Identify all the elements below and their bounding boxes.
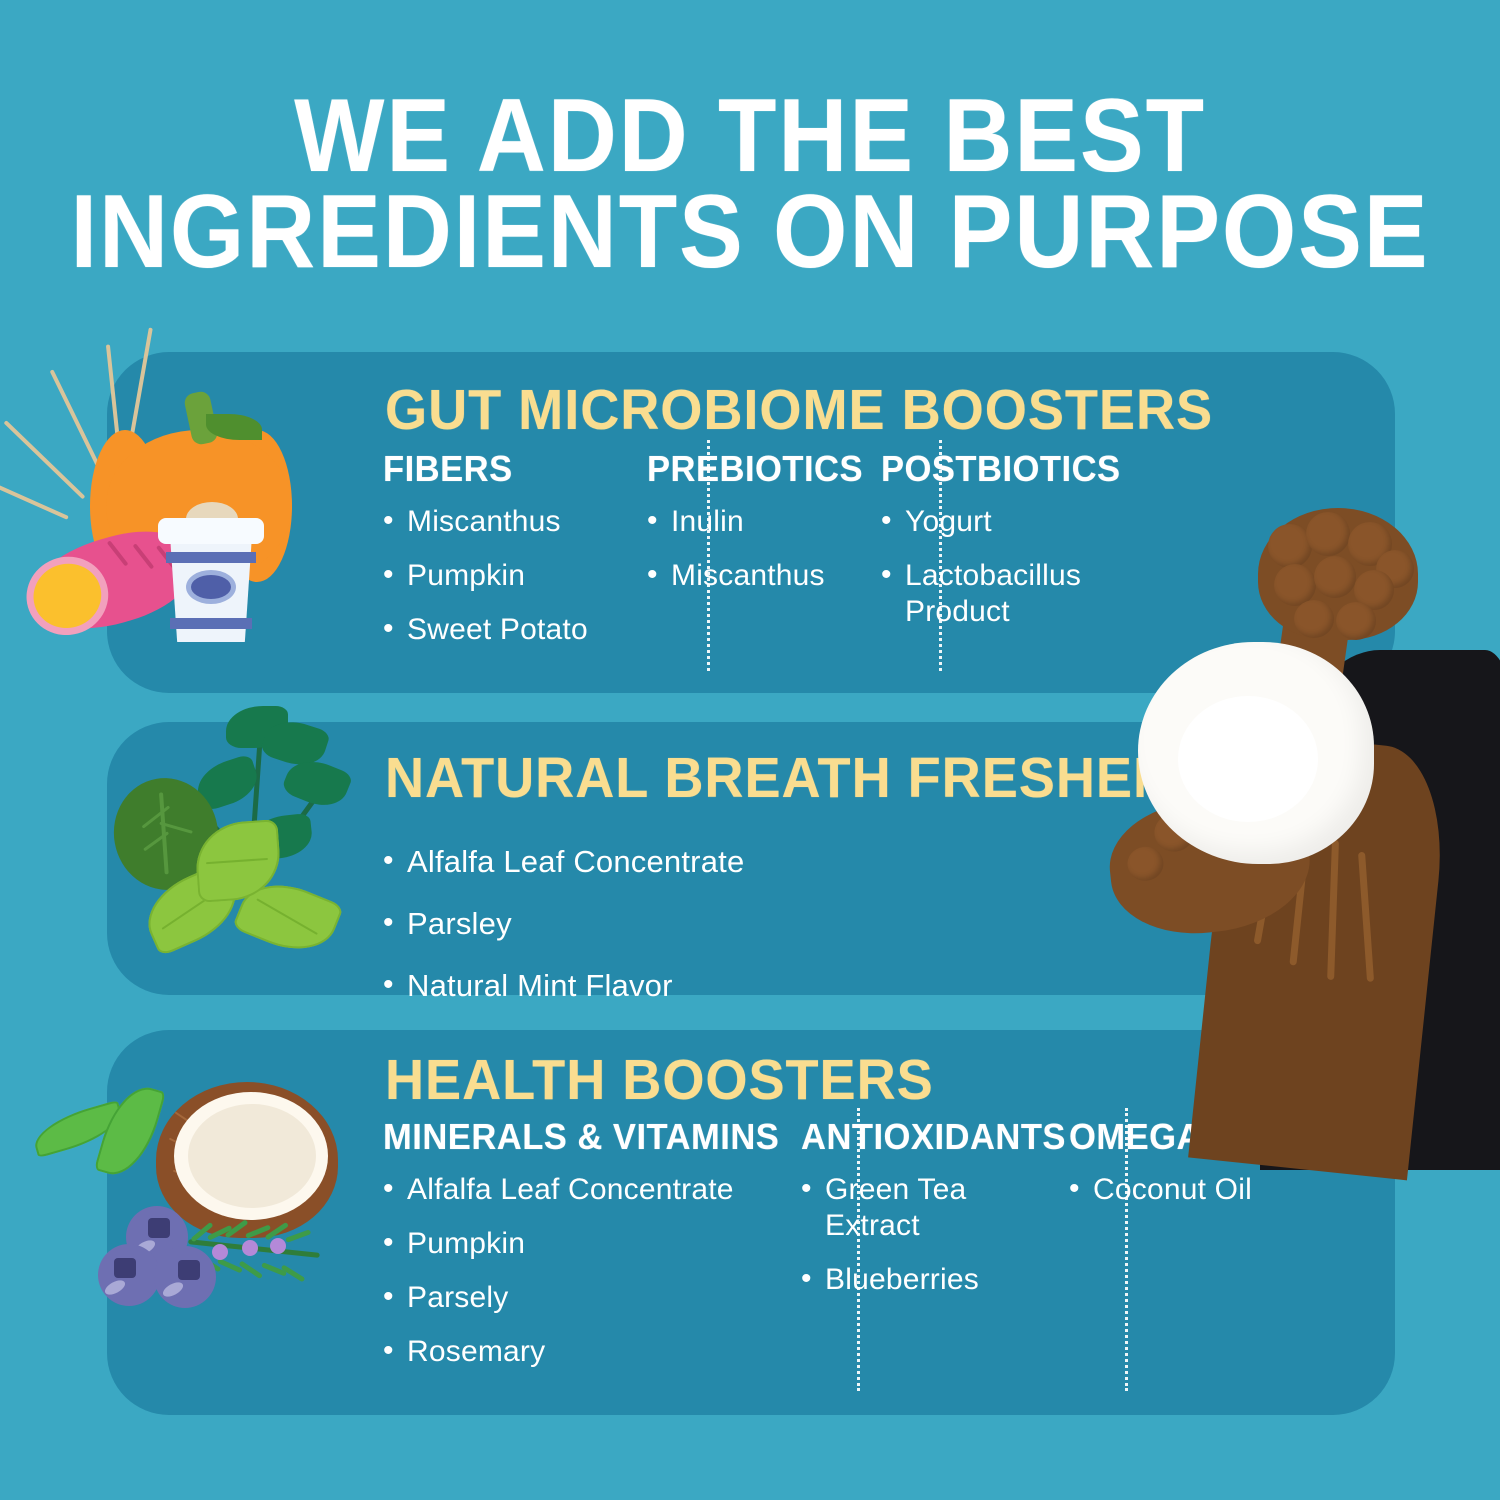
list-item: Lactobacillus Product <box>881 558 1147 630</box>
list-item: Coconut Oil <box>1069 1172 1373 1208</box>
column-omega-fatty-acids: OMEGA FATTY ACIDS Coconut Oil <box>1033 1118 1373 1388</box>
card-title-natural-breath-fresheners: NATURAL BREATH FRESHENERS <box>385 750 1287 807</box>
column-group: MINERALS & VITAMINS Alfalfa Leaf Concent… <box>383 1118 1373 1388</box>
page-title: WE ADD THE BEST INGREDIENTS ON PURPOSE <box>0 88 1500 280</box>
column-heading: OMEGA FATTY ACIDS <box>1069 1118 1361 1156</box>
ingredient-list: Alfalfa Leaf Concentrate Pumpkin Parsely… <box>383 1172 747 1370</box>
page-title-line-1: WE ADD THE BEST <box>60 88 1440 184</box>
list-item: Yogurt <box>881 504 1147 540</box>
list-item: Green Tea Extract <box>801 1172 1023 1244</box>
column-heading: ANTIOXIDANTS <box>801 1118 1014 1156</box>
column-heading: FIBERS <box>383 450 588 488</box>
column-antioxidants: ANTIOXIDANTS Green Tea Extract Blueberri… <box>765 1118 1033 1388</box>
column-postbiotics: POSTBIOTICS Yogurt Lactobacillus Product <box>847 450 1147 666</box>
card-title-gut-microbiome-boosters: GUT MICROBIOME BOOSTERS <box>385 382 1213 439</box>
list-item: Alfalfa Leaf Concentrate <box>383 1172 747 1208</box>
column-group: FIBERS Miscanthus Pumpkin Sweet Potato P… <box>383 450 1147 666</box>
card-title-health-boosters: HEALTH BOOSTERS <box>385 1052 934 1109</box>
list-item: Pumpkin <box>383 558 597 594</box>
ingredient-list: Inulin Miscanthus <box>647 504 835 594</box>
column-heading: MINERALS & VITAMINS <box>383 1118 732 1156</box>
ingredient-list: Miscanthus Pumpkin Sweet Potato <box>383 504 597 648</box>
list-item: Miscanthus <box>647 558 835 594</box>
ingredient-list: Coconut Oil <box>1069 1172 1373 1208</box>
list-item: Blueberries <box>801 1262 1023 1298</box>
ingredient-list: Green Tea Extract Blueberries <box>801 1172 1023 1298</box>
column-heading: PREBIOTICS <box>647 450 827 488</box>
page-title-line-2: INGREDIENTS ON PURPOSE <box>60 184 1440 280</box>
list-item: Rosemary <box>383 1334 747 1370</box>
card-health-boosters: HEALTH BOOSTERS MINERALS & VITAMINS Alfa… <box>107 1030 1395 1415</box>
card-natural-breath-fresheners: NATURAL BREATH FRESHENERS Alfalfa Leaf C… <box>107 722 1395 995</box>
ingredient-list: Alfalfa Leaf Concentrate Parsley Natural… <box>383 844 744 1030</box>
ingredient-list: Yogurt Lactobacillus Product <box>881 504 1147 630</box>
column-fibers: FIBERS Miscanthus Pumpkin Sweet Potato <box>383 450 615 666</box>
list-item: Natural Mint Flavor <box>383 968 744 1004</box>
column-prebiotics: PREBIOTICS Inulin Miscanthus <box>615 450 847 666</box>
list-item: Parsley <box>383 906 744 942</box>
card-gut-microbiome-boosters: GUT MICROBIOME BOOSTERS FIBERS Miscanthu… <box>107 352 1395 693</box>
list-item: Pumpkin <box>383 1226 747 1262</box>
column-heading: POSTBIOTICS <box>881 450 1136 488</box>
list-item: Sweet Potato <box>383 612 597 648</box>
list-item: Inulin <box>647 504 835 540</box>
list-item: Alfalfa Leaf Concentrate <box>383 844 744 880</box>
list-item: Parsely <box>383 1280 747 1316</box>
column-minerals-and-vitamins: MINERALS & VITAMINS Alfalfa Leaf Concent… <box>383 1118 765 1388</box>
list-item: Miscanthus <box>383 504 597 540</box>
